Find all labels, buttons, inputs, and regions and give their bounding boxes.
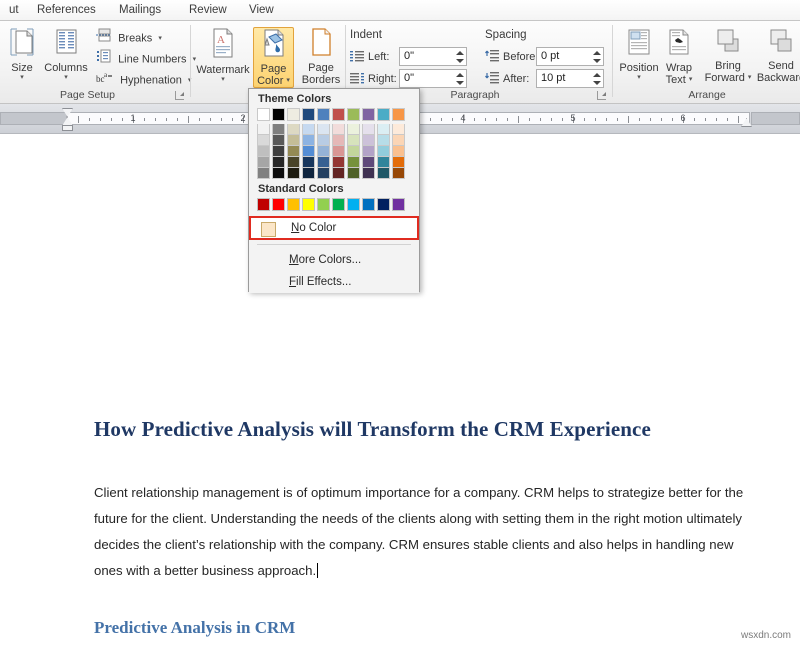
breaks-icon	[96, 28, 111, 49]
page-color-icon	[254, 28, 293, 61]
menu-item-fill-effects-label: Fill Effects...	[289, 276, 351, 288]
theme-color-shade-swatch[interactable]	[332, 146, 345, 157]
standard-color-swatch-1[interactable]	[257, 198, 270, 211]
theme-color-column-5[interactable]	[317, 108, 332, 179]
theme-color-shade-swatch[interactable]	[257, 135, 270, 146]
theme-color-shade-swatch[interactable]	[287, 157, 300, 168]
theme-color-shade-swatch[interactable]	[362, 168, 375, 179]
theme-color-shade-swatch[interactable]	[272, 157, 285, 168]
indent-right-spinner-down[interactable]	[455, 79, 464, 86]
theme-color-shade-swatch[interactable]	[347, 157, 360, 168]
chevron-down-icon[interactable]: ▾	[615, 74, 663, 81]
line-numbers-icon	[96, 49, 111, 70]
group-label-arrange: Arrange	[614, 88, 800, 102]
spacing-after-spinner-down[interactable]	[592, 79, 601, 86]
chevron-down-icon[interactable]: ▾	[689, 76, 693, 83]
ribbon-tab-bar: ut References Mailings Review View	[0, 0, 800, 21]
indent-right-icon	[350, 71, 364, 88]
page-size-icon	[5, 27, 39, 60]
theme-color-shade-swatch[interactable]	[392, 146, 405, 157]
indent-left-icon	[350, 49, 364, 66]
standard-color-swatch-2[interactable]	[272, 198, 285, 211]
indent-left-value: 0"	[404, 50, 414, 62]
theme-color-swatch[interactable]	[317, 108, 330, 121]
theme-color-shade-swatch[interactable]	[377, 146, 390, 157]
page-borders-label: Page	[298, 62, 344, 74]
paragraph-1-text: Client relationship management is of opt…	[94, 485, 743, 578]
theme-color-shade-swatch[interactable]	[287, 124, 300, 135]
size-label: Size	[5, 62, 39, 74]
bring-forward-label: Bring	[700, 60, 756, 72]
wrap-text-label-2: Text▾	[660, 74, 698, 86]
theme-color-shade-swatch[interactable]	[392, 124, 405, 135]
theme-color-shade-swatch[interactable]	[347, 124, 360, 135]
indent-left-label: Left:	[368, 51, 389, 63]
tab-review[interactable]: Review	[180, 0, 236, 21]
spacing-before-label: Before:	[503, 51, 538, 63]
theme-color-swatch[interactable]	[362, 108, 375, 121]
theme-color-swatch[interactable]	[287, 108, 300, 121]
theme-color-shade-swatch[interactable]	[287, 146, 300, 157]
indent-left-input[interactable]: 0"	[399, 47, 467, 66]
chevron-down-icon[interactable]: ▾	[286, 77, 290, 84]
spacing-before-spinner-up[interactable]	[592, 49, 601, 56]
chevron-down-icon[interactable]: ▾	[158, 35, 162, 42]
theme-color-shade-swatch[interactable]	[347, 135, 360, 146]
standard-color-swatch-8[interactable]	[362, 198, 375, 211]
page-borders-label-2: Borders	[298, 74, 344, 86]
theme-color-swatch[interactable]	[257, 108, 270, 121]
menu-item-more-colors[interactable]: More Colors...	[249, 249, 419, 271]
bring-forward-label-2: Forward▾	[700, 72, 756, 84]
svg-text:a: a	[104, 71, 108, 79]
line-numbers-label: Line Numbers	[118, 53, 186, 65]
menu-item-no-color-label: No Color	[291, 222, 336, 234]
theme-color-shade-swatch[interactable]	[377, 168, 390, 179]
chevron-down-icon[interactable]: ▾	[5, 74, 39, 81]
wrap-text-label: Wrap	[660, 62, 698, 74]
theme-color-shade-swatch[interactable]	[317, 135, 330, 146]
theme-color-shade-swatch[interactable]	[317, 168, 330, 179]
ruler-number-2: 2	[238, 113, 248, 123]
theme-color-shade-swatch[interactable]	[257, 124, 270, 135]
page-setup-dialog-launcher[interactable]	[175, 91, 184, 100]
theme-color-column-3[interactable]	[287, 108, 302, 179]
theme-color-swatch[interactable]	[377, 108, 390, 121]
theme-color-shade-swatch[interactable]	[362, 124, 375, 135]
position-label: Position	[615, 62, 663, 74]
theme-color-shade-swatch[interactable]	[347, 146, 360, 157]
ruler-number-5: 5	[568, 113, 578, 123]
menu-item-fill-effects[interactable]: Fill Effects...	[249, 271, 419, 293]
site-watermark: wsxdn.com	[741, 630, 791, 641]
send-backward-label-2: Backward	[756, 72, 800, 84]
hyphenation-button[interactable]: bc a Hyphenation ▾	[96, 70, 191, 90]
spacing-after-input[interactable]: 10 pt	[536, 69, 604, 88]
ruler-number-4: 4	[458, 113, 468, 123]
standard-color-swatch-5[interactable]	[317, 198, 330, 211]
send-backward-button[interactable]: Send Backward	[756, 27, 800, 84]
indent-heading: Indent	[350, 29, 382, 41]
theme-color-shade-swatch[interactable]	[302, 146, 315, 157]
theme-color-swatch[interactable]	[392, 108, 405, 121]
page-borders-button[interactable]: Page Borders	[298, 27, 344, 86]
theme-color-shade-swatch[interactable]	[302, 157, 315, 168]
indent-left-spinner-up[interactable]	[455, 49, 464, 56]
theme-colors-heading: Theme Colors	[249, 89, 419, 108]
theme-color-swatch[interactable]	[347, 108, 360, 121]
theme-color-shade-swatch[interactable]	[392, 157, 405, 168]
standard-color-swatch-6[interactable]	[332, 198, 345, 211]
position-icon	[615, 27, 663, 60]
chevron-down-icon[interactable]: ▾	[748, 74, 752, 81]
send-backward-icon	[756, 27, 800, 58]
theme-color-shade-swatch[interactable]	[317, 146, 330, 157]
theme-color-shade-swatch[interactable]	[362, 157, 375, 168]
theme-color-swatch[interactable]	[272, 108, 285, 121]
theme-color-shade-swatch[interactable]	[257, 146, 270, 157]
theme-color-shade-swatch[interactable]	[287, 168, 300, 179]
standard-colors-heading: Standard Colors	[249, 179, 419, 198]
paragraph-dialog-launcher[interactable]	[597, 91, 606, 100]
indent-right-value: 0"	[404, 72, 414, 84]
theme-color-shade-swatch[interactable]	[332, 124, 345, 135]
ruler-left-margin[interactable]	[0, 112, 68, 125]
theme-color-column-8[interactable]	[362, 108, 377, 179]
theme-color-shade-swatch[interactable]	[392, 135, 405, 146]
chevron-down-icon[interactable]: ▾	[42, 74, 90, 81]
spacing-after-label: After:	[503, 73, 529, 85]
indent-left-spinner-down[interactable]	[455, 57, 464, 64]
bring-forward-button[interactable]: Bring Forward▾	[700, 27, 756, 84]
indent-right-input[interactable]: 0"	[399, 69, 467, 88]
theme-color-shade-swatch[interactable]	[392, 168, 405, 179]
theme-color-column-1[interactable]	[257, 108, 272, 179]
theme-color-shade-swatch[interactable]	[362, 135, 375, 146]
spacing-heading: Spacing	[485, 29, 527, 41]
theme-color-shade-swatch[interactable]	[257, 157, 270, 168]
theme-color-column-6[interactable]	[332, 108, 347, 179]
spacing-after-spinner-up[interactable]	[592, 71, 601, 78]
columns-label: Columns	[42, 62, 90, 74]
page-color-button[interactable]: Page Color▾	[253, 27, 294, 88]
standard-color-swatch-3[interactable]	[287, 198, 300, 211]
theme-color-shade-swatch[interactable]	[287, 135, 300, 146]
theme-color-shade-swatch[interactable]	[377, 124, 390, 135]
theme-color-swatch[interactable]	[302, 108, 315, 121]
bring-forward-icon	[700, 27, 756, 58]
theme-color-shade-swatch[interactable]	[377, 135, 390, 146]
theme-color-shade-swatch[interactable]	[317, 124, 330, 135]
theme-color-shade-swatch[interactable]	[347, 168, 360, 179]
theme-color-shade-swatch[interactable]	[332, 135, 345, 146]
watermark-label: Watermark	[195, 64, 251, 76]
position-button[interactable]: Position ▾	[615, 27, 663, 81]
size-button[interactable]: Size ▾	[5, 27, 39, 81]
ruler-number-6: 6	[678, 113, 688, 123]
menu-item-no-color[interactable]: No Color	[249, 216, 419, 240]
group-separator	[345, 25, 346, 97]
ruler-number-1: 1	[128, 113, 138, 123]
spacing-after-value: 10 pt	[541, 72, 565, 84]
theme-color-shade-swatch[interactable]	[272, 168, 285, 179]
document-paragraph-1: Client relationship management is of opt…	[94, 480, 751, 584]
theme-color-shade-swatch[interactable]	[272, 146, 285, 157]
menu-item-more-colors-label: More Colors...	[289, 254, 361, 266]
spacing-before-value: 0 pt	[541, 50, 559, 62]
theme-color-column-2[interactable]	[272, 108, 287, 179]
document-heading-2: Predictive Analysis in CRM	[94, 618, 714, 638]
ruler-right-margin[interactable]	[751, 112, 800, 125]
page-color-label: Page	[254, 63, 293, 75]
spacing-before-spinner-down[interactable]	[592, 57, 601, 64]
standard-color-swatch-10[interactable]	[392, 198, 405, 211]
wrap-text-button[interactable]: Wrap Text▾	[660, 27, 698, 86]
page-color-dropdown[interactable]: Theme Colors Standard Colors No Color Mo…	[248, 88, 420, 292]
theme-color-shade-swatch[interactable]	[317, 157, 330, 168]
menu-separator	[257, 244, 411, 245]
tab-references[interactable]: References	[28, 0, 105, 21]
watermark-icon: A	[195, 27, 251, 62]
breaks-label: Breaks	[118, 32, 152, 44]
hyphenation-label: Hyphenation	[120, 74, 182, 86]
send-backward-label: Send	[756, 60, 800, 72]
theme-color-column-10[interactable]	[392, 108, 407, 179]
group-separator	[612, 25, 613, 97]
standard-color-swatch-7[interactable]	[347, 198, 360, 211]
spacing-after-icon	[485, 71, 499, 88]
svg-text:A: A	[217, 34, 225, 46]
chevron-down-icon[interactable]: ▾	[195, 76, 251, 83]
no-color-swatch	[261, 222, 276, 237]
standard-colors-grid[interactable]	[257, 198, 419, 211]
theme-color-column-9[interactable]	[377, 108, 392, 179]
theme-colors-grid[interactable]	[257, 108, 419, 179]
tab-mailings[interactable]: Mailings	[110, 0, 170, 21]
columns-icon	[42, 27, 90, 60]
text-cursor	[317, 563, 318, 578]
theme-color-shade-swatch[interactable]	[377, 157, 390, 168]
left-indent-marker[interactable]	[62, 125, 73, 131]
theme-color-shade-swatch[interactable]	[272, 124, 285, 135]
theme-color-shade-swatch[interactable]	[302, 168, 315, 179]
group-label-page-setup: Page Setup	[0, 88, 175, 102]
page-color-label-2: Color▾	[254, 75, 293, 87]
theme-color-column-4[interactable]	[302, 108, 317, 179]
theme-color-shade-swatch[interactable]	[362, 146, 375, 157]
standard-color-swatch-4[interactable]	[302, 198, 315, 211]
page-borders-icon	[298, 27, 344, 60]
theme-color-swatch[interactable]	[332, 108, 345, 121]
spacing-before-input[interactable]: 0 pt	[536, 47, 604, 66]
theme-color-shade-swatch[interactable]	[302, 124, 315, 135]
tab-view[interactable]: View	[240, 0, 283, 21]
group-separator	[190, 25, 191, 97]
watermark-button[interactable]: A Watermark ▾	[195, 27, 251, 83]
indent-right-spinner-up[interactable]	[455, 71, 464, 78]
theme-color-shade-swatch[interactable]	[332, 157, 345, 168]
theme-color-shade-swatch[interactable]	[332, 168, 345, 179]
spacing-before-icon	[485, 49, 499, 66]
theme-color-shade-swatch[interactable]	[302, 135, 315, 146]
tab-layout[interactable]: ut	[0, 0, 28, 21]
standard-color-swatch-9[interactable]	[377, 198, 390, 211]
wrap-text-icon	[660, 27, 698, 60]
indent-right-label: Right:	[368, 73, 397, 85]
columns-button[interactable]: Columns ▾	[42, 27, 90, 81]
theme-color-shade-swatch[interactable]	[272, 135, 285, 146]
line-numbers-button[interactable]: Line Numbers ▾	[96, 49, 196, 69]
theme-color-column-7[interactable]	[347, 108, 362, 179]
theme-color-shade-swatch[interactable]	[257, 168, 270, 179]
document-heading-1: How Predictive Analysis will Transform t…	[94, 417, 714, 442]
breaks-button[interactable]: Breaks ▾	[96, 28, 162, 48]
